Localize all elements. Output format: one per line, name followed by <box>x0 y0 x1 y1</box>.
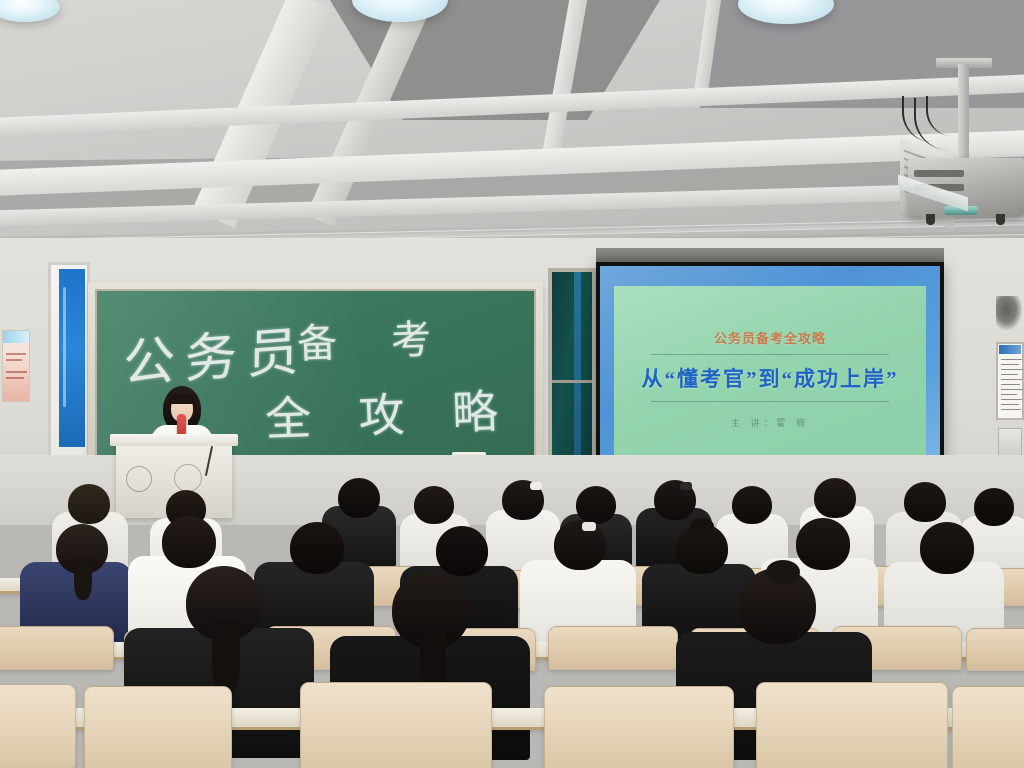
seat-back <box>0 626 114 670</box>
wall-stain <box>996 296 1022 330</box>
seat-back <box>756 682 948 768</box>
seat-back <box>544 686 734 768</box>
slide-divider-bottom <box>651 401 888 402</box>
wall-notice-right <box>996 342 1024 420</box>
seat-back <box>966 628 1024 671</box>
attendee-head <box>732 486 772 524</box>
attendee-head <box>576 486 616 524</box>
seat-back <box>952 686 1024 768</box>
slide-title: 从“懂考官”到“成功上岸” <box>642 363 899 393</box>
lecture-hall-photo: 公务员 备 考 全 攻 略 公务员备考全攻略 从“懂考官”到“成功上岸” 主 讲… <box>0 0 1024 768</box>
seat-back <box>300 682 492 768</box>
audience-area <box>0 470 1024 768</box>
attendee-head <box>974 488 1014 526</box>
hair-bun <box>766 560 800 584</box>
attendee-head <box>796 518 850 570</box>
hair-clip <box>680 482 692 490</box>
attendee-head <box>68 484 110 524</box>
seat-back <box>0 684 76 768</box>
seat-back <box>548 626 678 670</box>
attendee-head <box>814 478 856 518</box>
ceiling <box>0 0 1024 262</box>
side-window <box>48 262 90 467</box>
ceiling-light-icon <box>0 0 60 22</box>
screen-housing <box>596 248 944 262</box>
blackboard-text-line2: 备 考 <box>296 306 454 369</box>
attendee-head <box>290 522 344 574</box>
slide-divider-top <box>651 354 888 355</box>
attendee-head <box>162 516 216 568</box>
attendee-head <box>436 526 488 576</box>
slide-presenter: 主 讲：霍 楠 <box>731 416 809 429</box>
ponytail <box>212 620 240 696</box>
presentation-slide: 公务员备考全攻略 从“懂考官”到“成功上岸” 主 讲：霍 楠 <box>614 286 926 470</box>
attendee-head <box>554 520 606 570</box>
wall-poster-left <box>2 330 30 402</box>
ponytail <box>74 558 92 600</box>
attendee-head <box>414 486 454 524</box>
blackboard-text-line3: 全 攻 略 <box>264 375 517 450</box>
attendee-head <box>904 482 946 522</box>
slide-subtitle: 公务员备考全攻略 <box>714 328 826 347</box>
hair-bun <box>690 518 714 534</box>
attendee-head <box>338 478 380 518</box>
hair-clip <box>582 522 596 531</box>
attendee-head <box>920 522 974 574</box>
seat-back <box>84 686 232 768</box>
hair-clip <box>530 482 542 490</box>
blue-curtain <box>59 269 85 447</box>
